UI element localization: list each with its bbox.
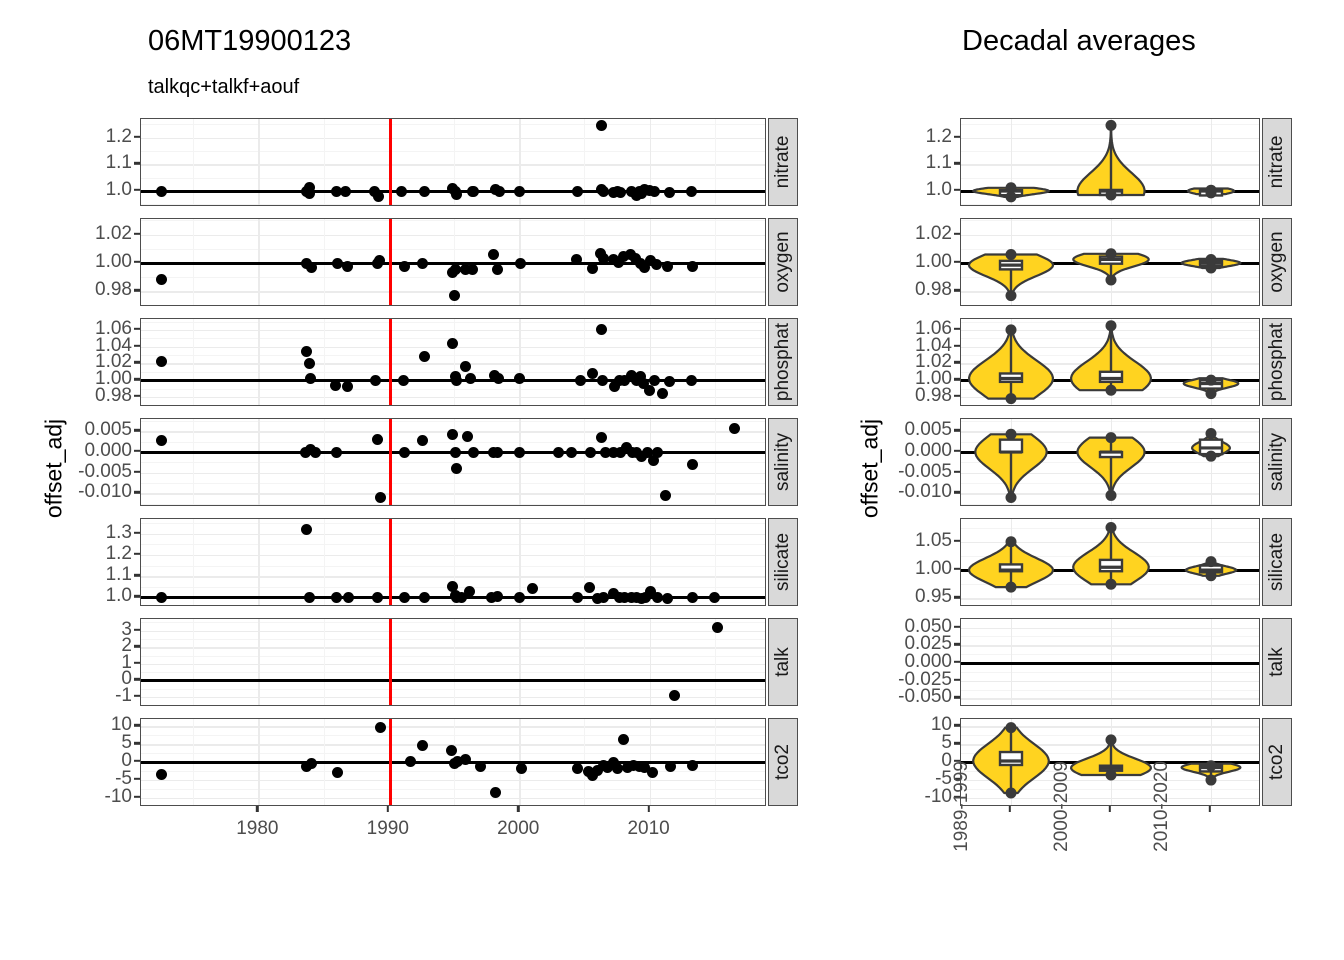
boxplot-outlier xyxy=(1006,191,1017,202)
y-tick-mark xyxy=(954,328,960,330)
y-tick-mark xyxy=(954,395,960,397)
plot-root: 06MT19900123 talkqc+talkf+aouf Decadal a… xyxy=(0,0,1344,960)
boxplot-outlier xyxy=(1006,787,1017,798)
y-tick-mark xyxy=(954,568,960,570)
y-tick-mark xyxy=(954,162,960,164)
boxplot-outlier xyxy=(1006,536,1017,547)
boxplot-outlier xyxy=(1206,556,1217,567)
facet-strip-label: oxygen xyxy=(1266,231,1288,292)
boxplot-outlier xyxy=(1006,722,1017,733)
y-tick-mark xyxy=(954,625,960,627)
boxplot-outlier xyxy=(1206,775,1217,786)
x-tick-mark xyxy=(1209,806,1211,812)
boxplot-outlier xyxy=(1006,290,1017,301)
y-tick-mark xyxy=(954,471,960,473)
boxplot-outlier xyxy=(1106,275,1117,286)
facet-strip-label: phosphat xyxy=(1266,323,1288,401)
gridline-minor-h xyxy=(961,405,1259,406)
y-tick-mark xyxy=(954,378,960,380)
y-tick-label: 1.02 xyxy=(882,223,952,245)
boxplot-outlier xyxy=(1106,248,1117,259)
y-tick-label: 0.005 xyxy=(882,419,952,441)
facet-strip-label: silicate xyxy=(1266,533,1288,591)
boxplot-outlier xyxy=(1106,320,1117,331)
y-tick-label: 0.000 xyxy=(882,440,952,462)
y-tick-mark xyxy=(954,261,960,263)
boxplot-outlier xyxy=(1106,734,1117,745)
boxplot-outlier xyxy=(1106,432,1117,443)
x-tick-label: 2000-2009 xyxy=(1051,761,1073,879)
facet-strip-tco2-right: tco2 xyxy=(1262,718,1292,806)
x-tick-label: 2010-2020 xyxy=(1151,761,1173,879)
facet-strip-label: salinity xyxy=(1266,433,1288,491)
facet-strip-silicate-right: silicate xyxy=(1262,518,1292,606)
boxplot-outlier xyxy=(1106,490,1117,501)
y-tick-mark xyxy=(954,344,960,346)
y-tick-mark xyxy=(954,596,960,598)
facet-strip-label: tco2 xyxy=(1266,744,1288,780)
facet-strip-nitrate-right: nitrate xyxy=(1262,118,1292,206)
facet-strip-phosphat-right: phosphat xyxy=(1262,318,1292,406)
facet-strip-label: talk xyxy=(1266,647,1288,677)
y-tick-mark xyxy=(954,491,960,493)
facet-panel-tco2-right xyxy=(960,718,1260,806)
y-tick-label: 1.0 xyxy=(882,179,952,201)
y-tick-mark xyxy=(954,361,960,363)
violin-layer xyxy=(961,219,1260,306)
boxplot-outlier xyxy=(1006,582,1017,593)
boxplot-box xyxy=(1000,752,1022,765)
facet-panel-talk-right xyxy=(960,618,1260,706)
y-tick-mark xyxy=(954,679,960,681)
boxplot-outlier xyxy=(1006,429,1017,440)
x-tick-mark xyxy=(1109,806,1111,812)
violin-layer xyxy=(961,619,1260,706)
y-tick-mark xyxy=(954,540,960,542)
y-tick-mark xyxy=(954,643,960,645)
boxplot-outlier xyxy=(1006,492,1017,503)
boxplot-box xyxy=(1000,440,1022,452)
y-tick-label: 0.98 xyxy=(882,279,952,301)
facet-panel-salinity-right xyxy=(960,418,1260,506)
y-tick-mark xyxy=(954,724,960,726)
violin-layer xyxy=(961,519,1260,606)
boxplot-outlier xyxy=(1106,522,1117,533)
boxplot-box xyxy=(1100,372,1122,382)
y-tick-label: 10 xyxy=(882,714,952,736)
facet-strip-oxygen-right: oxygen xyxy=(1262,218,1292,306)
facet-strip-talk-right: talk xyxy=(1262,618,1292,706)
y-tick-label: 1.00 xyxy=(882,558,952,580)
facet-panel-phosphat-right xyxy=(960,318,1260,406)
y-tick-label: 1.06 xyxy=(882,318,952,340)
y-tick-label: 1.2 xyxy=(882,126,952,148)
y-tick-mark xyxy=(954,232,960,234)
boxplot-outlier xyxy=(1006,249,1017,260)
y-tick-mark xyxy=(954,661,960,663)
facet-strip-salinity-right: salinity xyxy=(1262,418,1292,506)
y-tick-label: -0.010 xyxy=(882,481,952,503)
y-tick-label: 0.95 xyxy=(882,586,952,608)
boxplot-outlier xyxy=(1106,120,1117,131)
boxplot-outlier xyxy=(1206,428,1217,439)
y-tick-label: 0.050 xyxy=(882,616,952,638)
y-tick-mark xyxy=(954,289,960,291)
y-tick-mark xyxy=(954,696,960,698)
facet-panel-oxygen-right xyxy=(960,218,1260,306)
boxplot-outlier xyxy=(1106,190,1117,201)
y-tick-mark xyxy=(954,450,960,452)
y-tick-mark xyxy=(954,742,960,744)
facet-strip-label: nitrate xyxy=(1266,136,1288,189)
y-tick-label: -0.005 xyxy=(882,461,952,483)
y-tick-label: 1.00 xyxy=(882,251,952,273)
y-tick-label: 1.05 xyxy=(882,530,952,552)
boxplot-outlier xyxy=(1106,579,1117,590)
violin-layer xyxy=(961,419,1260,506)
facet-panel-nitrate-right xyxy=(960,118,1260,206)
boxplot-outlier xyxy=(1206,570,1217,581)
boxplot-outlier xyxy=(1206,262,1217,273)
boxplot-outlier xyxy=(1206,760,1217,771)
x-tick-label: 1989-1999 xyxy=(951,761,973,879)
boxplot-outlier xyxy=(1206,388,1217,399)
y-tick-mark xyxy=(954,189,960,191)
violin-layer xyxy=(961,719,1260,806)
facet-panel-silicate-right xyxy=(960,518,1260,606)
boxplot-outlier xyxy=(1006,393,1017,404)
y-tick-mark xyxy=(954,135,960,137)
x-tick-mark xyxy=(1009,806,1011,812)
boxplot-outlier xyxy=(1206,187,1217,198)
boxplot-outlier xyxy=(1206,451,1217,462)
boxplot-outlier xyxy=(1006,324,1017,335)
boxplot-outlier xyxy=(1206,375,1217,386)
boxplot-box xyxy=(1100,560,1122,571)
y-tick-label: 1.1 xyxy=(882,152,952,174)
boxplot-outlier xyxy=(1106,770,1117,781)
right-facet-column: 1.01.11.2nitrate0.981.001.02oxygen0.981.… xyxy=(0,0,1344,960)
violin-layer xyxy=(961,319,1260,406)
violin-layer xyxy=(961,119,1260,206)
y-tick-mark xyxy=(954,429,960,431)
boxplot-outlier xyxy=(1106,385,1117,396)
